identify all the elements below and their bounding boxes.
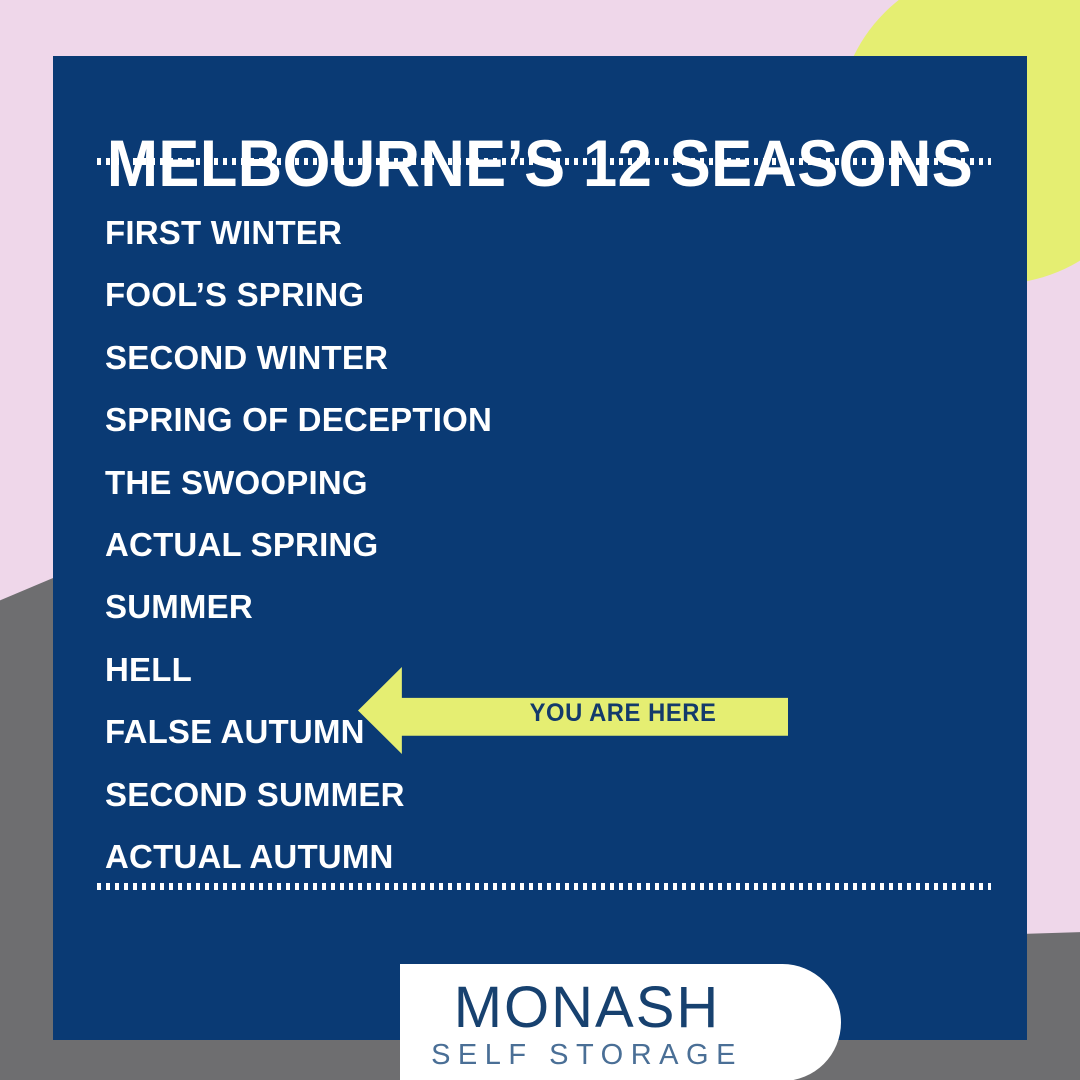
you-are-here-label: YOU ARE HERE [481, 700, 766, 726]
divider-bottom-dotted [97, 883, 991, 890]
season-list: FIRST WINTER FOOL’S SPRING SECOND WINTER… [105, 202, 805, 888]
list-item: THE SWOOPING [105, 452, 805, 514]
divider-top-dotted [97, 158, 991, 165]
list-item: ACTUAL SPRING [105, 514, 805, 576]
list-item: FOOL’S SPRING [105, 264, 805, 326]
list-item: SPRING OF DECEPTION [105, 389, 805, 451]
brand-logo: MONASH SELF STORAGE [400, 964, 841, 1080]
brand-tagline: SELF STORAGE [400, 1040, 774, 1070]
list-item: SUMMER [105, 576, 805, 638]
list-item: ACTUAL AUTUMN [105, 826, 805, 888]
navy-card: MELBOURNE’S 12 SEASONS FIRST WINTER FOOL… [53, 56, 1027, 1040]
list-item: SECOND SUMMER [105, 764, 805, 826]
list-item: FIRST WINTER [105, 202, 805, 264]
brand-name: MONASH [400, 978, 774, 1038]
list-item: SECOND WINTER [105, 327, 805, 389]
poster-canvas: MELBOURNE’S 12 SEASONS FIRST WINTER FOOL… [0, 0, 1080, 1080]
you-are-here-callout: YOU ARE HERE [358, 667, 788, 754]
